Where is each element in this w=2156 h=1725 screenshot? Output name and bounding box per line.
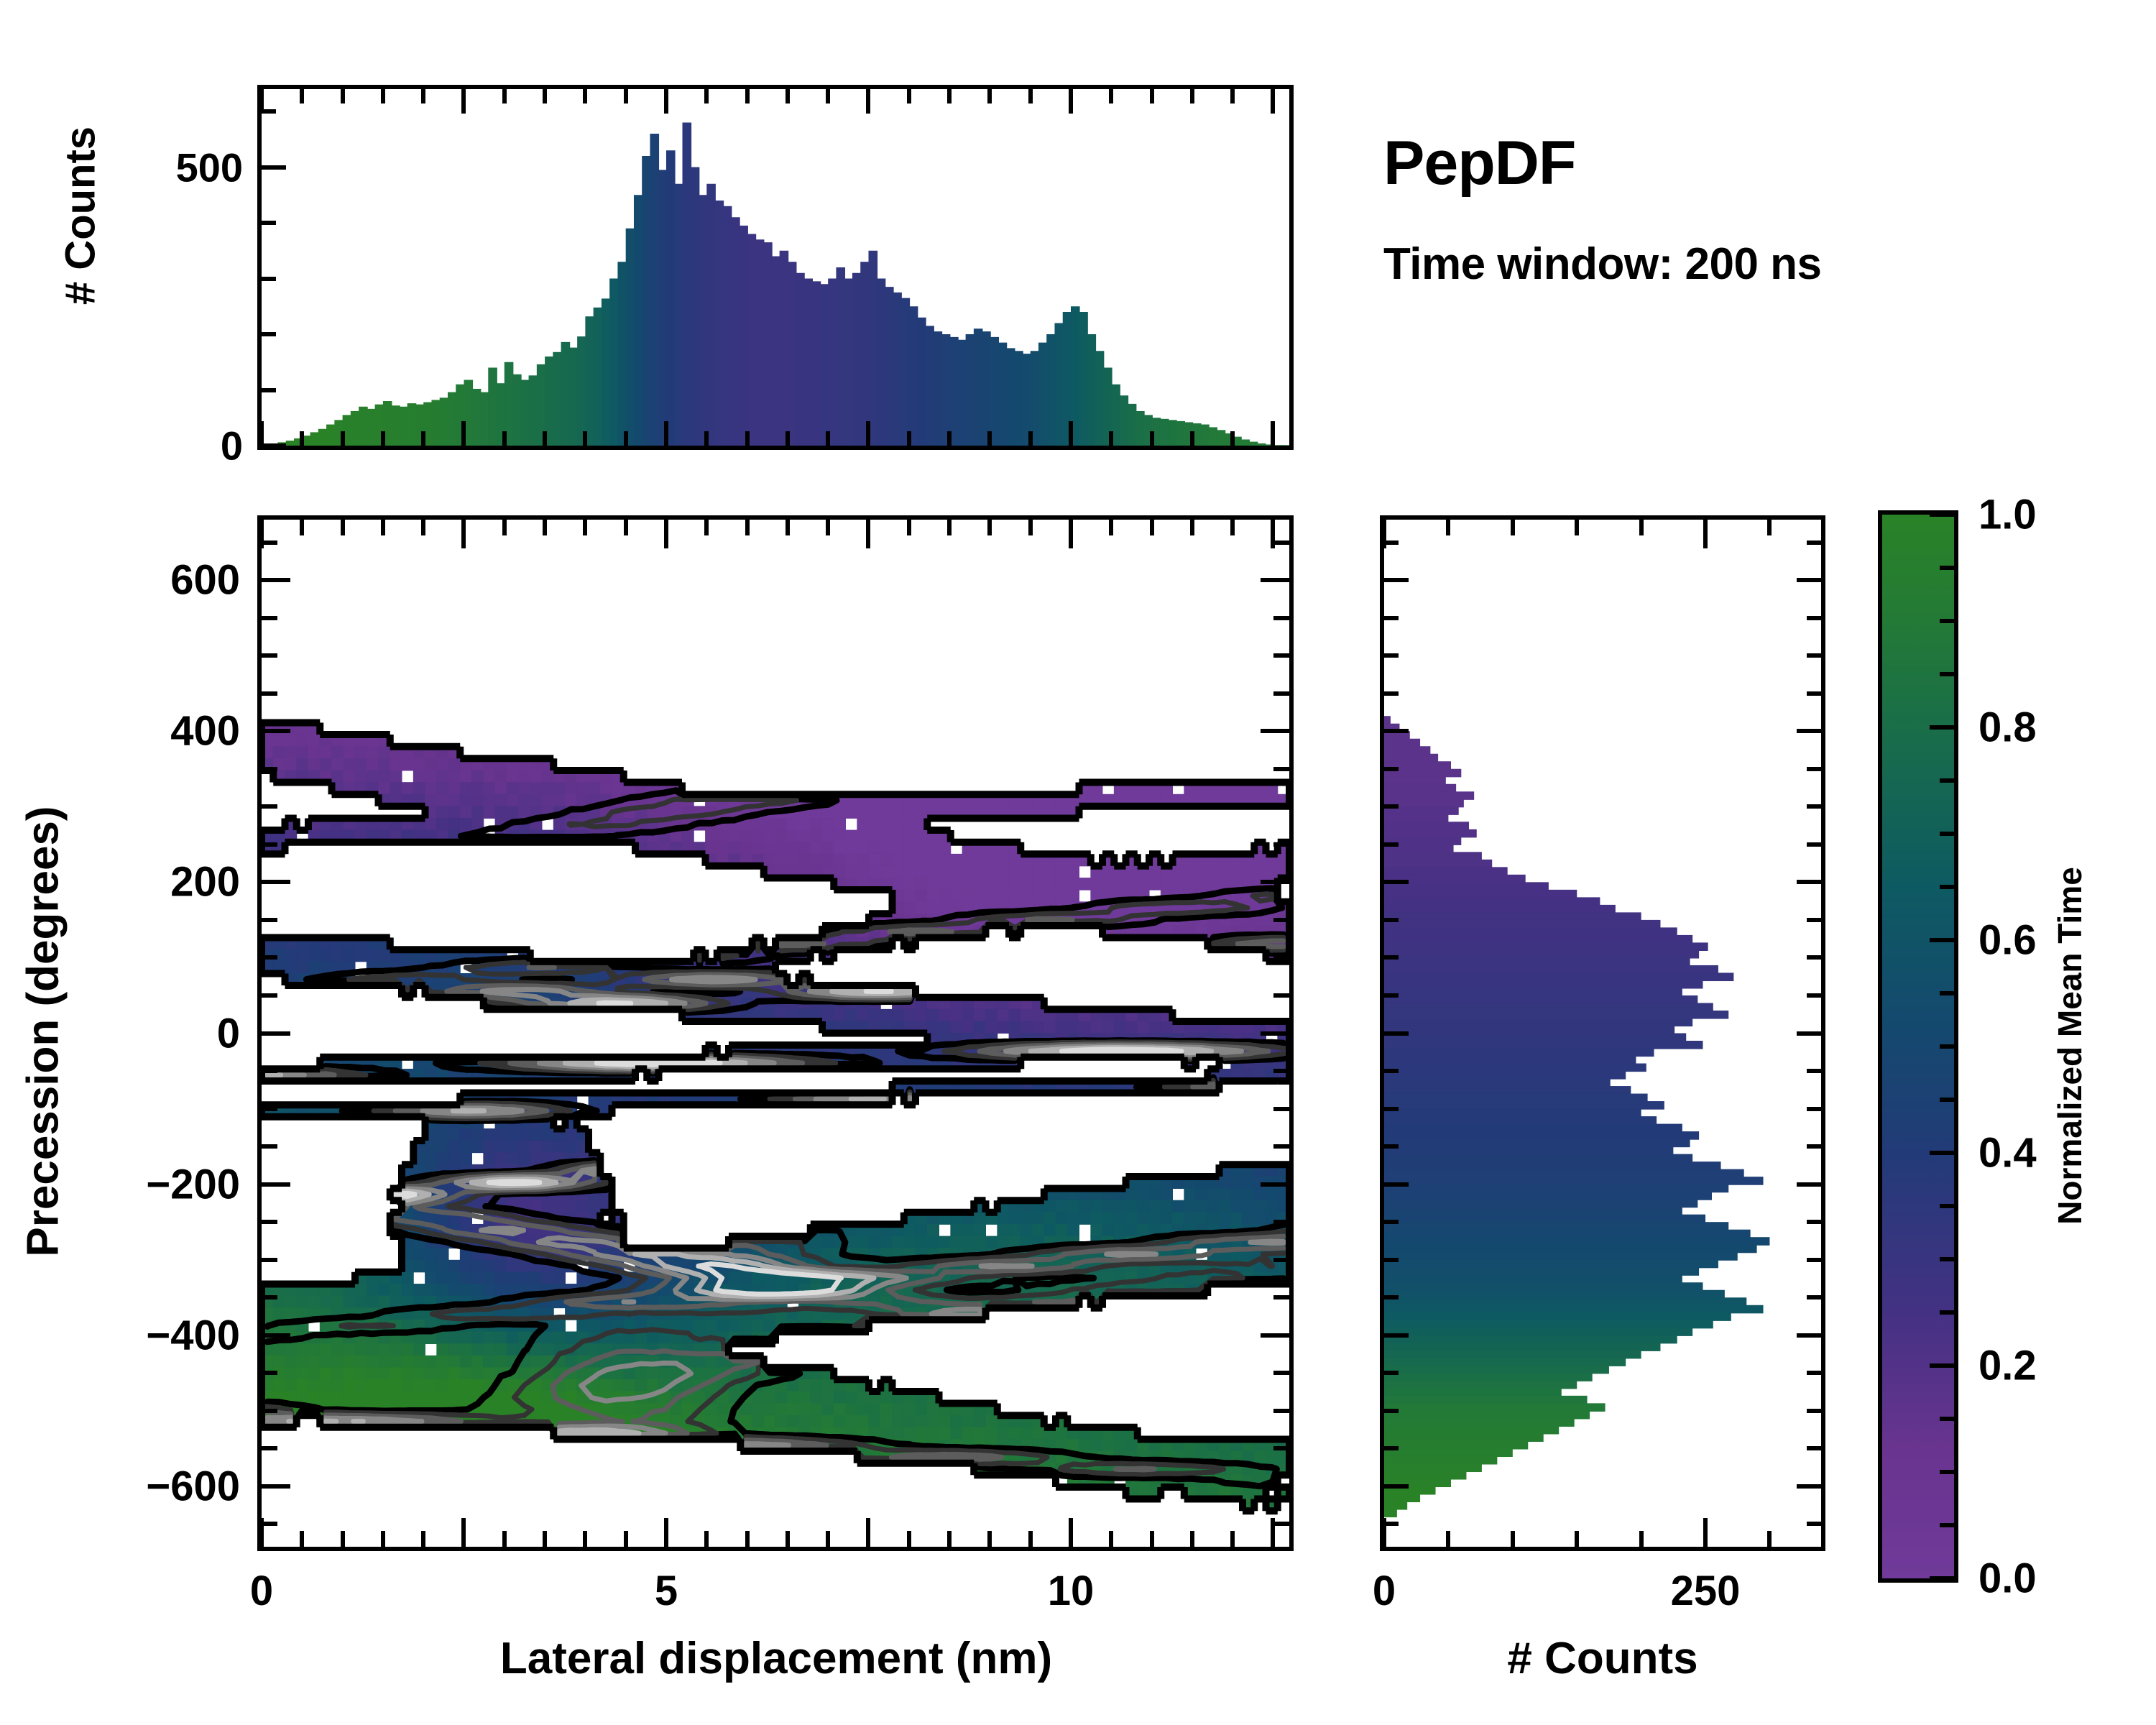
colorbar-tick-minor xyxy=(1940,1417,1954,1421)
main-xtick-top xyxy=(786,520,790,535)
top-xtick xyxy=(947,431,952,446)
right-ytick-r xyxy=(1807,1220,1821,1224)
right-ytick xyxy=(1384,540,1399,545)
main-ytick-minor-right xyxy=(1273,918,1289,922)
main-ytick-right-2 xyxy=(1261,880,1289,884)
colorbar-tick-label-5: 0.0 xyxy=(1978,1555,2037,1603)
top-xtick-upper xyxy=(786,89,790,103)
top-xtick-upper xyxy=(502,89,507,103)
main-xtick-top xyxy=(745,520,750,535)
main-ytick-minor-right xyxy=(1273,1258,1289,1262)
colorbar-tick-minor xyxy=(1940,1098,1954,1102)
main-ytick-right-0 xyxy=(1261,578,1289,582)
right-ytick xyxy=(1384,1484,1409,1489)
right-xtick-minor-top xyxy=(1575,520,1579,535)
top-xtick xyxy=(907,431,911,446)
main-xtick xyxy=(704,1531,709,1547)
top-xtick-upper xyxy=(461,89,466,114)
colorbar-tick-major-5 xyxy=(1930,1576,1954,1581)
main-xtick xyxy=(1109,1531,1113,1547)
top-xtick-upper xyxy=(745,89,750,103)
top-xtick xyxy=(826,431,830,446)
main-xtick xyxy=(624,1531,628,1547)
top-xtick xyxy=(786,431,790,446)
main-ytick-minor xyxy=(262,842,277,847)
top-xtick xyxy=(1271,421,1275,446)
right-ytick-r xyxy=(1807,1295,1821,1299)
main-xtick-label-2: 10 xyxy=(1048,1567,1095,1615)
main-ytick-right-5 xyxy=(1261,1333,1289,1338)
top-ytick-major-0 xyxy=(262,443,286,448)
main-xtick xyxy=(1271,1518,1275,1547)
top-xtick-upper xyxy=(1271,89,1275,114)
top-histogram-panel xyxy=(257,85,1294,450)
colorbar-tick-label-2: 0.6 xyxy=(1978,916,2037,965)
main-xtick-top xyxy=(259,520,264,548)
main-ytick-label-6: −600 xyxy=(146,1462,240,1510)
main-ytick-minor-right xyxy=(1273,955,1289,960)
main-ytick-minor xyxy=(262,1069,277,1073)
top-xtick-upper xyxy=(341,89,345,103)
top-xtick xyxy=(664,421,668,446)
right-ytick xyxy=(1384,1107,1399,1111)
main-xlabel: Lateral displacement (nm) xyxy=(500,1633,1052,1684)
main-xtick xyxy=(1069,1518,1073,1547)
main-ytick-major-2 xyxy=(262,880,290,884)
right-ytick-r xyxy=(1797,578,1821,582)
top-ytick-minor xyxy=(262,332,276,336)
right-ytick-r xyxy=(1807,955,1821,960)
colorbar-tick-minor xyxy=(1940,778,1954,783)
main-xtick xyxy=(543,1531,547,1547)
main-ylabel: Precession (degrees) xyxy=(18,806,69,1256)
top-xtick-upper xyxy=(907,89,911,103)
main-xtick xyxy=(259,1518,264,1547)
main-xtick-top xyxy=(624,520,628,535)
colorbar-tick-major-4 xyxy=(1930,1363,1954,1368)
top-xtick-upper xyxy=(947,89,952,103)
main-ytick-minor-right xyxy=(1273,1371,1289,1375)
main-ytick-right-4 xyxy=(1261,1182,1289,1187)
right-ytick xyxy=(1384,993,1399,998)
top-xtick-upper xyxy=(1109,89,1113,103)
top-xtick-upper xyxy=(664,89,668,114)
colorbar-tick-minor xyxy=(1940,991,1954,995)
right-xtick-minor xyxy=(1575,1531,1579,1547)
main-ytick-minor-right xyxy=(1273,842,1289,847)
colorbar-tick-major-0 xyxy=(1930,512,1954,517)
top-histogram-ylabel: # Counts xyxy=(57,126,105,305)
main-xtick xyxy=(461,1518,466,1547)
right-ytick-r xyxy=(1797,1031,1821,1036)
top-xtick-upper xyxy=(987,89,992,103)
right-ytick-r xyxy=(1807,918,1821,922)
main-ytick-minor-right xyxy=(1273,540,1289,545)
main-xtick-top xyxy=(461,520,466,548)
main-ytick-label-1: 400 xyxy=(170,707,240,755)
main-ytick-minor-right xyxy=(1273,804,1289,809)
main-ytick-minor xyxy=(262,804,277,809)
right-xtick-minor-top xyxy=(1639,520,1644,535)
top-xtick-upper xyxy=(583,89,587,103)
right-xtick-minor xyxy=(1767,1531,1772,1547)
main-ytick-minor-right xyxy=(1273,1522,1289,1526)
colorbar-tick-minor xyxy=(1940,672,1954,676)
right-ytick xyxy=(1384,955,1399,960)
main-xtick-top xyxy=(583,520,587,535)
top-ytick-label-1: 500 xyxy=(176,144,243,190)
colorbar-tick-minor xyxy=(1940,1310,1954,1315)
main-ytick-minor-right xyxy=(1273,1295,1289,1299)
right-ytick-r xyxy=(1807,540,1821,545)
right-ytick-r xyxy=(1807,1069,1821,1073)
top-xtick xyxy=(866,421,870,446)
top-xtick-upper xyxy=(704,89,709,103)
main-xtick-top xyxy=(1028,520,1033,535)
main-xtick xyxy=(421,1531,425,1547)
main-ytick-minor xyxy=(262,993,277,998)
page-subtitle: Time window: 200 ns xyxy=(1383,239,1822,290)
main-ytick-minor xyxy=(262,767,277,771)
main-xtick-top xyxy=(1190,520,1194,535)
main-xtick xyxy=(1230,1531,1235,1547)
right-ytick xyxy=(1384,729,1409,733)
right-xtick-minor-top xyxy=(1446,520,1450,535)
colorbar-tick-label-0: 1.0 xyxy=(1978,491,2037,539)
figure-canvas: # Counts Precession (degrees) Lateral di… xyxy=(0,0,2156,1725)
main-xtick xyxy=(866,1518,870,1547)
top-xtick-upper xyxy=(866,89,870,114)
right-histogram-bars xyxy=(1384,520,1821,1547)
main-ytick-minor-right xyxy=(1273,1409,1289,1413)
top-xtick xyxy=(704,431,709,446)
top-xtick-upper xyxy=(1150,89,1154,103)
colorbar-tick-major-1 xyxy=(1930,725,1954,730)
main-ytick-major-0 xyxy=(262,578,290,582)
main-xtick-top xyxy=(1271,520,1275,548)
main-ytick-label-4: −200 xyxy=(146,1160,240,1208)
colorbar-label: Normalized Mean Time xyxy=(2050,867,2089,1225)
top-xtick xyxy=(300,431,304,446)
top-xtick xyxy=(259,421,264,446)
right-ytick xyxy=(1384,804,1399,809)
main-ytick-minor-right xyxy=(1273,993,1289,998)
colorbar-tick-minor xyxy=(1940,1204,1954,1208)
right-ytick xyxy=(1384,880,1409,884)
right-ytick xyxy=(1384,767,1399,771)
top-xtick xyxy=(1190,431,1194,446)
main-ytick-major-6 xyxy=(262,1484,290,1489)
right-xtick-top-1 xyxy=(1703,520,1708,548)
main-xtick-top xyxy=(826,520,830,535)
top-xtick xyxy=(745,431,750,446)
top-xtick xyxy=(987,431,992,446)
main-xtick-top xyxy=(907,520,911,535)
top-ytick-minor xyxy=(262,221,276,225)
colorbar-tick-minor xyxy=(1940,566,1954,570)
top-histogram-bars xyxy=(262,89,1289,446)
main-xtick-top xyxy=(947,520,952,535)
main-xtick xyxy=(583,1531,587,1547)
right-ytick xyxy=(1384,1371,1399,1375)
right-ytick xyxy=(1384,1446,1399,1450)
main-xtick-top xyxy=(341,520,345,535)
right-ytick-r xyxy=(1807,1409,1821,1413)
main-ytick-minor-right xyxy=(1273,691,1289,696)
top-xtick xyxy=(543,431,547,446)
main-ytick-minor xyxy=(262,1295,277,1299)
top-xtick xyxy=(1230,431,1235,446)
right-ytick xyxy=(1384,1409,1399,1413)
main-ytick-minor xyxy=(262,955,277,960)
main-ytick-minor-right xyxy=(1273,616,1289,620)
main-ytick-label-2: 200 xyxy=(170,858,240,906)
right-ytick xyxy=(1384,1258,1399,1262)
colorbar-tick-major-3 xyxy=(1930,1151,1954,1155)
main-xtick xyxy=(1028,1531,1033,1547)
top-xtick-upper xyxy=(421,89,425,103)
main-ytick-right-6 xyxy=(1261,1484,1289,1489)
top-xtick-upper xyxy=(826,89,830,103)
main-ytick-minor-right xyxy=(1273,1220,1289,1224)
main-ytick-minor xyxy=(262,1522,277,1526)
main-xtick xyxy=(300,1531,304,1547)
top-xtick-upper xyxy=(381,89,385,103)
right-ytick xyxy=(1384,1220,1399,1224)
top-xtick xyxy=(381,431,385,446)
main-xtick-label-1: 5 xyxy=(655,1567,678,1615)
top-xtick xyxy=(583,431,587,446)
right-ytick xyxy=(1384,616,1399,620)
right-ytick xyxy=(1384,842,1399,847)
right-ytick-r xyxy=(1807,767,1821,771)
main-xtick-top xyxy=(1069,520,1073,548)
top-xtick xyxy=(502,431,507,446)
main-xtick xyxy=(907,1531,911,1547)
main-xtick-top xyxy=(664,520,668,548)
right-ytick-r xyxy=(1807,1144,1821,1149)
main-ytick-major-4 xyxy=(262,1182,290,1187)
main-ytick-minor-right xyxy=(1273,767,1289,771)
right-ytick-r xyxy=(1797,1333,1821,1338)
colorbar-tick-label-3: 0.4 xyxy=(1978,1129,2037,1177)
main-xtick-top xyxy=(704,520,709,535)
right-histogram-panel xyxy=(1380,515,1825,1551)
top-xtick-upper xyxy=(1028,89,1033,103)
top-xtick xyxy=(1069,421,1073,446)
main-ytick-right-3 xyxy=(1261,1031,1289,1036)
right-ytick xyxy=(1384,1333,1409,1338)
top-ytick-major-1 xyxy=(262,165,286,170)
top-xtick-upper xyxy=(1230,89,1235,103)
right-ytick-r xyxy=(1807,616,1821,620)
main-ytick-minor-right xyxy=(1273,1144,1289,1149)
main-ytick-minor xyxy=(262,616,277,620)
main-ytick-minor xyxy=(262,1409,277,1413)
main-xtick xyxy=(1190,1531,1194,1547)
main-xtick-top xyxy=(502,520,507,535)
main-xtick xyxy=(987,1531,992,1547)
main-xtick-top xyxy=(987,520,992,535)
main-xtick-top xyxy=(421,520,425,535)
main-ytick-major-1 xyxy=(262,729,290,733)
right-ytick-r xyxy=(1807,842,1821,847)
main-ytick-minor xyxy=(262,540,277,545)
colorbar-tick-major-2 xyxy=(1930,938,1954,942)
right-ytick xyxy=(1384,1522,1399,1526)
main-xtick xyxy=(502,1531,507,1547)
right-ytick xyxy=(1384,1182,1409,1187)
right-ytick-r xyxy=(1807,804,1821,809)
colorbar-tick-minor xyxy=(1940,885,1954,889)
heatmap-image xyxy=(262,520,1289,1547)
colorbar-tick-minor xyxy=(1940,1470,1954,1474)
right-xtick-label-1: 250 xyxy=(1671,1567,1741,1615)
main-xtick xyxy=(745,1531,750,1547)
top-xtick xyxy=(1109,431,1113,446)
right-ytick xyxy=(1384,918,1399,922)
right-xtick-minor xyxy=(1511,1531,1515,1547)
top-xtick-upper xyxy=(1069,89,1073,114)
top-xtick xyxy=(341,431,345,446)
main-xtick xyxy=(1150,1531,1154,1547)
main-ytick-minor xyxy=(262,1144,277,1149)
colorbar-tick-minor xyxy=(1940,619,1954,623)
main-ytick-minor xyxy=(262,1107,277,1111)
top-ytick-minor xyxy=(262,388,276,392)
main-xtick xyxy=(664,1518,668,1547)
right-xtick-minor-top xyxy=(1767,520,1772,535)
top-xtick xyxy=(421,431,425,446)
right-xtick-minor xyxy=(1639,1531,1644,1547)
top-xtick xyxy=(624,431,628,446)
right-ytick xyxy=(1384,1295,1399,1299)
main-ytick-minor xyxy=(262,1371,277,1375)
main-xtick-top xyxy=(866,520,870,548)
colorbar-tick-minor xyxy=(1940,832,1954,836)
main-ytick-label-3: 0 xyxy=(217,1009,240,1057)
right-ytick-r xyxy=(1797,1484,1821,1489)
right-xtick-label-0: 0 xyxy=(1373,1567,1396,1615)
main-xtick-top xyxy=(300,520,304,535)
right-ytick xyxy=(1384,1031,1409,1036)
right-ytick xyxy=(1384,1069,1399,1073)
right-ytick xyxy=(1384,1144,1399,1149)
top-xtick-upper xyxy=(1190,89,1194,103)
right-ytick-r xyxy=(1807,1258,1821,1262)
main-ytick-minor-right xyxy=(1273,1107,1289,1111)
right-ytick xyxy=(1384,653,1399,658)
right-ytick xyxy=(1384,691,1399,696)
top-xtick-upper xyxy=(624,89,628,103)
colorbar-tick-minor xyxy=(1940,1044,1954,1049)
top-xtick xyxy=(461,421,466,446)
right-ytick-r xyxy=(1807,1371,1821,1375)
page-title: PepDF xyxy=(1383,128,1575,199)
main-xtick xyxy=(381,1531,385,1547)
colorbar-tick-label-1: 0.8 xyxy=(1978,704,2037,752)
main-ytick-minor xyxy=(262,1258,277,1262)
main-ytick-minor-right xyxy=(1273,653,1289,658)
top-xtick-upper xyxy=(543,89,547,103)
right-ytick-r xyxy=(1807,1107,1821,1111)
right-xtick-minor xyxy=(1446,1531,1450,1547)
right-ytick-r xyxy=(1807,1522,1821,1526)
right-histogram-xlabel: # Counts xyxy=(1507,1633,1697,1684)
top-ytick-minor xyxy=(262,277,276,281)
main-ytick-minor xyxy=(262,1220,277,1224)
right-ytick-r xyxy=(1807,653,1821,658)
main-xtick xyxy=(947,1531,952,1547)
main-xtick-top xyxy=(381,520,385,535)
main-xtick-top xyxy=(1150,520,1154,535)
main-ytick-minor xyxy=(262,918,277,922)
main-heatmap-panel xyxy=(257,515,1294,1551)
main-xtick-top xyxy=(1109,520,1113,535)
top-ytick-minor xyxy=(262,109,276,114)
main-ytick-minor xyxy=(262,691,277,696)
main-ytick-label-0: 600 xyxy=(170,556,240,604)
right-ytick xyxy=(1384,578,1409,582)
right-ytick-r xyxy=(1797,1182,1821,1187)
main-xtick xyxy=(826,1531,830,1547)
right-xtick-major-1 xyxy=(1703,1518,1708,1547)
right-ytick-r xyxy=(1807,691,1821,696)
main-xtick-top xyxy=(1230,520,1235,535)
main-ytick-minor xyxy=(262,653,277,658)
right-ytick-r xyxy=(1807,1446,1821,1450)
colorbar-tick-label-4: 0.2 xyxy=(1978,1342,2037,1390)
top-xtick xyxy=(1028,431,1033,446)
right-ytick-r xyxy=(1807,993,1821,998)
main-ytick-label-5: −400 xyxy=(146,1311,240,1359)
main-xtick-top xyxy=(543,520,547,535)
main-ytick-major-3 xyxy=(262,1031,290,1036)
main-ytick-minor-right xyxy=(1273,1446,1289,1450)
colorbar-tick-minor xyxy=(1940,1523,1954,1527)
main-ytick-right-1 xyxy=(1261,729,1289,733)
right-xtick-minor-top xyxy=(1511,520,1515,535)
main-xtick xyxy=(786,1531,790,1547)
right-ytick-r xyxy=(1797,880,1821,884)
main-ytick-major-5 xyxy=(262,1333,290,1338)
main-xtick-label-0: 0 xyxy=(250,1567,273,1615)
top-xtick xyxy=(1150,431,1154,446)
colorbar-tick-minor xyxy=(1940,1257,1954,1261)
top-xtick-upper xyxy=(300,89,304,103)
right-ytick-r xyxy=(1797,729,1821,733)
top-xtick-upper xyxy=(259,89,264,114)
main-ytick-minor xyxy=(262,1446,277,1450)
top-ytick-label-0: 0 xyxy=(221,423,243,469)
main-ytick-minor-right xyxy=(1273,1069,1289,1073)
main-xtick xyxy=(341,1531,345,1547)
